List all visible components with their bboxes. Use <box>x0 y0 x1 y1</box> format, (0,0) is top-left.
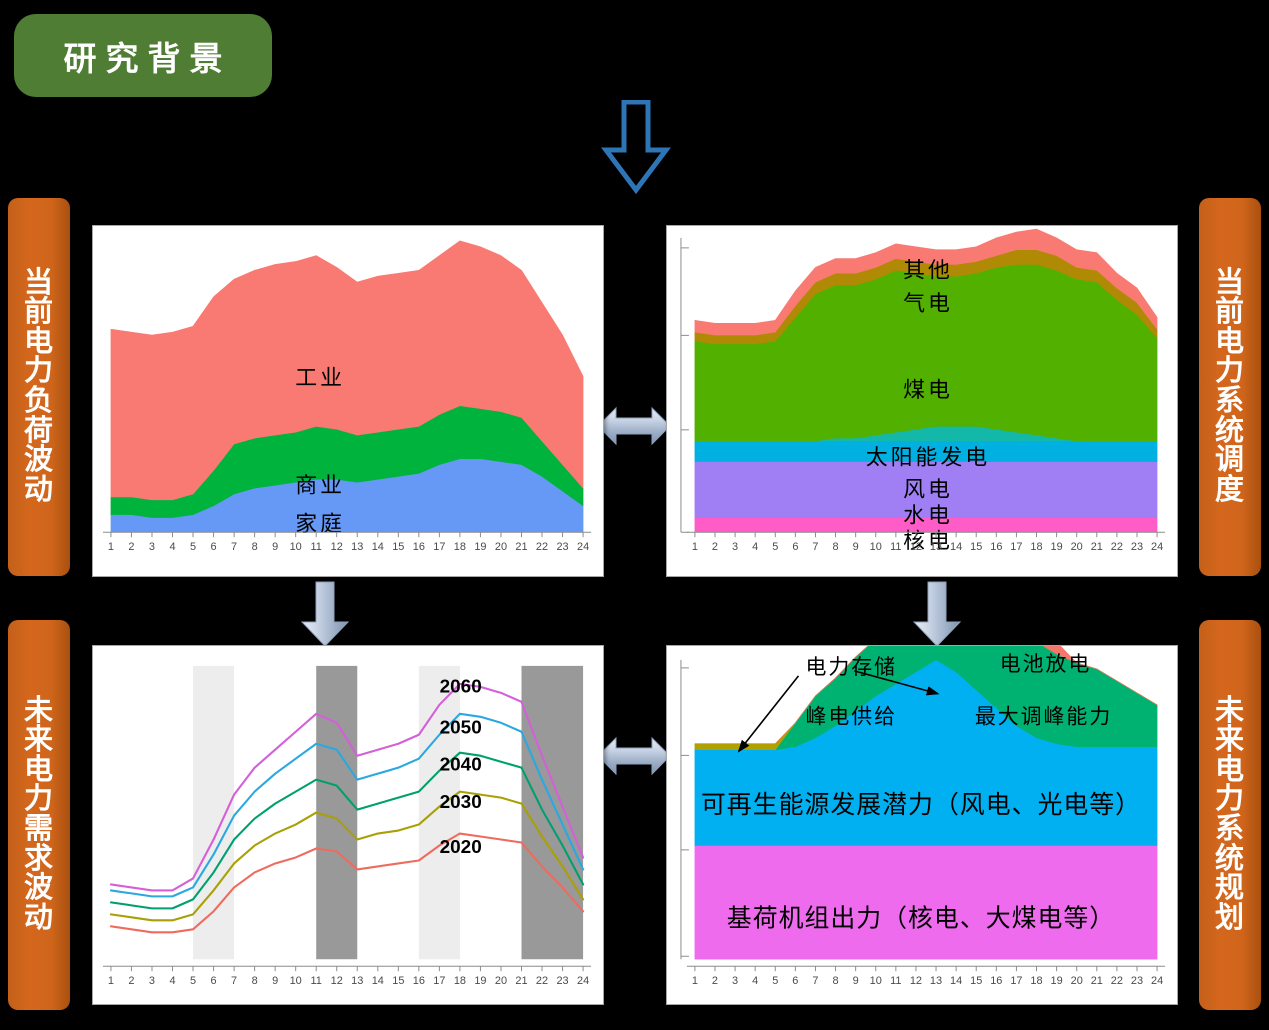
axis-tick-label: 13 <box>351 975 363 987</box>
chart-future-demand: 20602050204020302020 1234567891011121314… <box>93 646 603 1004</box>
axis-tick-label: 4 <box>752 975 758 987</box>
area-label-gas: 气电 <box>903 291 953 316</box>
axis-tick-label: 14 <box>950 975 962 987</box>
axis-tick-label: 23 <box>1131 541 1143 553</box>
axis-tick-label: 16 <box>413 541 425 553</box>
annotation-storage: 电力存储 <box>805 655 897 679</box>
axis-tick-label: 1 <box>692 975 698 987</box>
down-arrow-icon <box>596 100 676 195</box>
dark-band-midday <box>316 666 357 959</box>
dark-band-night <box>521 666 583 959</box>
axis-tick-label: 20 <box>1071 975 1083 987</box>
axis-tick-label: 16 <box>990 975 1002 987</box>
area-label-renewable: 可再生能源发展潜力（风电、光电等） <box>701 791 1141 819</box>
axis-tick-label: 18 <box>1030 541 1042 553</box>
axis-tick-label: 22 <box>1111 975 1123 987</box>
annotation-max-peak: 最大调峰能力 <box>975 705 1112 729</box>
axis-tick-label: 2 <box>712 975 718 987</box>
axis-tick-label: 4 <box>169 975 175 987</box>
area-label-commercial: 商业 <box>295 472 345 497</box>
axis-tick-label: 10 <box>290 975 302 987</box>
axis-tick-label: 13 <box>930 975 942 987</box>
year-label-2060: 2060 <box>440 677 482 698</box>
axis-tick-label: 11 <box>890 975 901 987</box>
chart-panel-current-load: 工业商业家庭 123456789101112131415161718192021… <box>92 225 604 577</box>
axis-tick-label: 4 <box>169 541 175 553</box>
axis-tick-label: 16 <box>990 541 1002 553</box>
axis-tick-label: 5 <box>190 975 196 987</box>
axis-tick-label: 9 <box>272 975 278 987</box>
axis-tick-label: 21 <box>515 541 527 553</box>
axis-tick-label: 5 <box>772 541 778 553</box>
light-band-morning <box>193 666 234 959</box>
axis-tick-label: 7 <box>231 975 237 987</box>
axis-tick-label: 22 <box>1111 541 1123 553</box>
year-label-2040: 2040 <box>440 754 482 775</box>
axis-tick-label: 2 <box>128 541 134 553</box>
chart-panel-current-dispatch: 其他气电煤电太阳能发电风电水电核电 1234567891011121314151… <box>666 225 1178 577</box>
banner-current-dispatch-label: 当前电力系统调度 <box>1213 269 1247 506</box>
axis-tick-label: 11 <box>311 541 322 553</box>
axis-tick-label: 5 <box>190 541 196 553</box>
axis-tick-label: 14 <box>950 541 962 553</box>
area-label-solar: 太阳能发电 <box>866 445 990 470</box>
axis-tick-label: 19 <box>474 541 486 553</box>
area-label-baseload: 基荷机组出力（核电、大煤电等） <box>727 904 1115 932</box>
axis-tick-label: 21 <box>515 975 527 987</box>
stacked-areas <box>111 241 583 532</box>
axis-tick-label: 12 <box>331 541 343 553</box>
axis-tick-label: 20 <box>495 975 507 987</box>
axis-tick-label: 1 <box>108 975 114 987</box>
axis-tick-label: 17 <box>1010 541 1022 553</box>
axis-tick-label: 10 <box>290 541 302 553</box>
axis-tick-label: 8 <box>252 541 258 553</box>
axis-tick-label: 18 <box>454 541 466 553</box>
axis-tick-label: 21 <box>1091 541 1103 553</box>
axis-tick-label: 21 <box>1091 975 1103 987</box>
area-series-基荷机组出力 <box>695 846 1157 960</box>
axis-tick-label: 15 <box>392 975 404 987</box>
axis-tick-label: 13 <box>351 541 363 553</box>
double-arrow-horizontal-top-icon <box>596 398 672 454</box>
year-label-2030: 2030 <box>440 792 482 813</box>
page-title: 研究背景 <box>14 14 272 97</box>
axis-tick-label: 6 <box>211 541 217 553</box>
axis-tick-label: 20 <box>495 541 507 553</box>
area-label-hydro: 水电 <box>903 502 953 527</box>
axis-tick-label: 17 <box>1010 975 1022 987</box>
axis-tick-label: 7 <box>231 541 237 553</box>
axis-tick-label: 23 <box>1131 975 1143 987</box>
axis-tick-label: 8 <box>252 975 258 987</box>
axis-tick-label: 7 <box>812 975 818 987</box>
axis-tick-label: 9 <box>853 541 859 553</box>
axis-tick-label: 3 <box>732 975 738 987</box>
axis-tick-label: 24 <box>577 975 589 987</box>
x-axis: 123456789101112131415161718192021222324 <box>103 966 591 987</box>
axis-tick-label: 3 <box>149 975 155 987</box>
axis-tick-label: 22 <box>536 975 548 987</box>
banner-current-load-label: 当前电力负荷波动 <box>22 269 56 506</box>
axis-tick-label: 5 <box>772 975 778 987</box>
axis-tick-label: 3 <box>732 541 738 553</box>
axis-tick-label: 2 <box>128 975 134 987</box>
axis-tick-label: 16 <box>413 975 425 987</box>
axis-tick-label: 22 <box>536 541 548 553</box>
axis-tick-label: 24 <box>1151 975 1163 987</box>
axis-tick-label: 14 <box>372 541 384 553</box>
axis-tick-label: 12 <box>331 975 343 987</box>
axis-tick-label: 14 <box>372 975 384 987</box>
axis-tick-label: 15 <box>970 541 982 553</box>
axis-tick-label: 1 <box>108 541 114 553</box>
axis-tick-label: 3 <box>149 541 155 553</box>
banner-future-planning: 未来电力系统规划 <box>1199 620 1261 1010</box>
axis-tick-label: 9 <box>272 541 278 553</box>
x-axis: 123456789101112131415161718192021222324 <box>103 532 591 553</box>
axis-tick-label: 23 <box>556 975 568 987</box>
axis-tick-label: 20 <box>1071 541 1083 553</box>
axis-tick-label: 11 <box>311 975 322 987</box>
axis-tick-label: 17 <box>433 541 445 553</box>
axis-tick-label: 2 <box>712 541 718 553</box>
double-arrow-horizontal-bottom-icon <box>596 728 672 784</box>
axis-tick-label: 8 <box>833 541 839 553</box>
area-label-wind: 风电 <box>903 476 953 501</box>
axis-tick-label: 6 <box>792 541 798 553</box>
axis-tick-label: 18 <box>1030 975 1042 987</box>
axis-tick-label: 18 <box>454 975 466 987</box>
chart-panel-future-demand: 20602050204020302020 1234567891011121314… <box>92 645 604 1005</box>
axis-tick-label: 8 <box>833 975 839 987</box>
area-label-industry: 工业 <box>295 365 345 390</box>
banner-current-load: 当前电力负荷波动 <box>8 198 70 576</box>
axis-tick-label: 6 <box>792 975 798 987</box>
axis-tick-label: 24 <box>577 541 589 553</box>
axis-tick-label: 10 <box>870 541 882 553</box>
area-label-coal: 煤电 <box>903 377 953 402</box>
banner-future-planning-label: 未来电力系统规划 <box>1213 697 1247 934</box>
axis-tick-label: 11 <box>890 541 901 553</box>
axis-tick-label: 19 <box>1051 541 1063 553</box>
axis-tick-label: 1 <box>692 541 698 553</box>
chart-panel-future-planning: 电力存储电池放电峰电供给最大调峰能力可再生能源发展潜力（风电、光电等）基荷机组出… <box>666 645 1178 1005</box>
annotation-battery: 电池放电 <box>1000 652 1092 676</box>
year-label-2020: 2020 <box>440 837 482 858</box>
down-arrow-right-icon <box>908 580 966 648</box>
chart-current-dispatch: 其他气电煤电太阳能发电风电水电核电 1234567891011121314151… <box>667 226 1177 576</box>
axis-tick-label: 9 <box>853 975 859 987</box>
axis-tick-label: 19 <box>474 975 486 987</box>
chart-current-load: 工业商业家庭 123456789101112131415161718192021… <box>93 226 603 576</box>
axis-tick-label: 12 <box>910 975 922 987</box>
axis-tick-label: 19 <box>1051 975 1063 987</box>
chart-future-planning: 电力存储电池放电峰电供给最大调峰能力可再生能源发展潜力（风电、光电等）基荷机组出… <box>667 646 1177 1004</box>
axis-tick-label: 13 <box>930 541 942 553</box>
axis-tick-label: 6 <box>211 975 217 987</box>
axis-tick-label: 15 <box>392 541 404 553</box>
slide-canvas: 研究背景 当前电力负荷波动 当前电力系统调度 未来电力需求波动 未来电力系统规划 <box>0 0 1269 1030</box>
banner-future-demand-label: 未来电力需求波动 <box>22 697 56 934</box>
axis-tick-label: 7 <box>812 541 818 553</box>
banner-future-demand: 未来电力需求波动 <box>8 620 70 1010</box>
axis-tick-label: 12 <box>910 541 922 553</box>
axis-tick-label: 15 <box>970 975 982 987</box>
annotation-peak-supply: 峰电供给 <box>805 705 897 729</box>
down-arrow-left-icon <box>296 580 354 648</box>
year-label-2050: 2050 <box>440 718 482 739</box>
axis-tick-label: 17 <box>433 975 445 987</box>
axis-tick-label: 23 <box>556 541 568 553</box>
banner-current-dispatch: 当前电力系统调度 <box>1199 198 1261 576</box>
axis-tick-label: 10 <box>870 975 882 987</box>
axis-tick-label: 4 <box>752 541 758 553</box>
axis-tick-label: 24 <box>1151 541 1163 553</box>
area-label-other: 其他 <box>903 258 953 283</box>
